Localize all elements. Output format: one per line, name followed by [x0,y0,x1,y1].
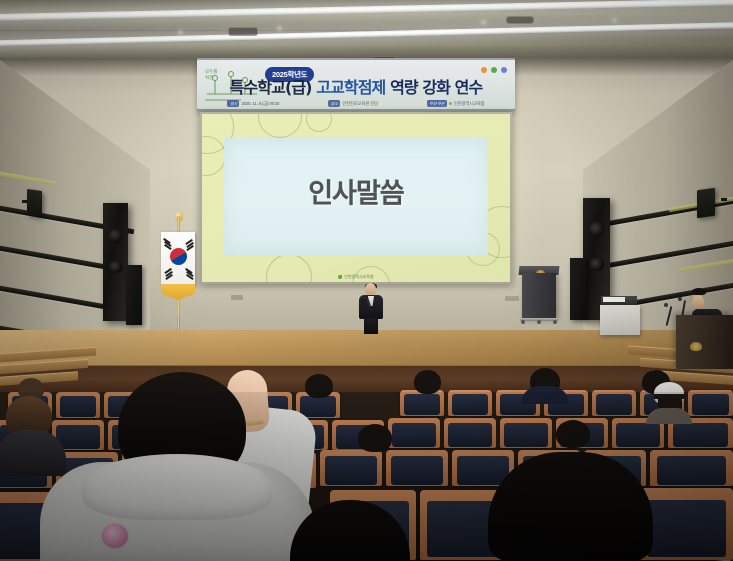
ceiling-spotlight-icon [612,18,617,23]
banner-date-text: 2025. 11. 8.(금) 09:30 [241,101,279,107]
audience-head [414,370,441,394]
lectern-caster [521,320,525,324]
seat[interactable] [388,418,440,448]
host-logo-icon [449,102,453,106]
slide-footer-text: 인천광역시교육청 [344,274,373,280]
banner-host: 주최·주관 인천광역시교육청 [427,100,485,107]
mobile-lectern [519,266,559,328]
slide-deco-circle [258,114,302,138]
banner-date: 일시 2025. 11. 8.(금) 09:30 [227,100,279,107]
banner-host-chip: 주최·주관 [427,100,447,107]
event-banner: 모두를 위한 2025학년도 특수학교(급) 고교학점제 역량 강화 연수 일시… [197,58,515,111]
banner-place-text: 인천진로교육원 강당 [342,101,378,107]
banner-place-chip: 장소 [328,100,340,107]
person-arm [361,299,366,313]
person-legs [364,318,378,334]
audience-shoulders [521,386,569,404]
banner-title-part1: 특수학교(급) [230,78,312,97]
banner-subinfo: 일시 2025. 11. 8.(금) 09:30 장소 인천진로교육원 강당 주… [203,100,509,107]
seat[interactable] [448,390,492,416]
slide-logo-icon [338,275,342,279]
banner-dots [481,67,507,73]
banner-title-part3: 역량 강화 연수 [390,78,482,97]
lectern-emblem-icon [690,342,702,351]
hoodie-badge-icon [102,524,128,548]
svg-text:모두를: 모두를 [205,69,217,75]
banner-date-chip: 일시 [227,100,239,107]
seat[interactable] [650,450,733,486]
hoodie-hood [82,454,272,520]
ceiling-spotlight-icon [481,20,486,25]
slide-headline: 인사말씀 [202,172,510,211]
slide-footer: 인천광역시교육청 [202,274,510,280]
banner-place: 장소 인천진로교육원 강당 [328,100,378,107]
ceiling-spotlight-icon [178,30,183,35]
seat[interactable] [500,418,552,448]
microphone-icon [664,303,668,307]
wall-speaker-icon [27,189,42,217]
ceiling-vent-icon [506,16,534,24]
tower-speaker-left [103,203,128,321]
seat[interactable] [592,390,636,416]
audience-shoulders [646,408,692,424]
audience-person-hoodie [40,372,330,561]
person-hair [692,288,706,295]
slide-deco-circle [306,114,332,132]
audience-head [556,420,590,448]
banner-title: 특수학교(급) 고교학점제 역량 강화 연수 [203,79,509,96]
main-lectern [676,315,733,369]
auditorium-photo: 모두를 위한 2025학년도 특수학교(급) 고교학점제 역량 강화 연수 일시… [0,0,733,561]
flag-cloth [161,232,195,286]
banner-host-text: 인천광역시교육청 [454,101,485,107]
person-head [692,295,704,309]
microphone-icon [678,297,682,301]
person-hair [488,452,653,561]
seat[interactable] [400,390,444,416]
wall-speaker-icon [697,188,715,219]
wall-marker [505,296,519,301]
subwoofer-left [126,265,142,325]
taeguk-icon [170,248,187,265]
subwoofer-right [570,258,586,320]
equipment-box [600,305,640,335]
wall-marker [231,295,243,300]
banner-dot-blue [501,67,507,73]
seat[interactable] [386,450,448,486]
stage-floor-sheen [0,330,733,368]
lectern-caster [553,320,557,324]
audience-head [358,424,392,452]
banner-dot-orange [481,67,487,73]
banner-dot-green [491,67,497,73]
presentation-slide: 인사말씀 인천광역시교육청 [202,114,510,282]
banner-title-part2: 고교학점제 [316,78,385,97]
equipment-paper [603,297,625,302]
audience-person-foreground-right [488,452,653,561]
lectern-caster [537,320,541,324]
korean-flag [155,216,201,336]
lectern-body [522,273,556,318]
presenter-person [355,283,387,333]
ceiling-spotlight-icon [277,26,282,31]
projection-screen: 인사말씀 인천광역시교육청 [200,112,512,284]
seat[interactable] [444,418,496,448]
ceiling-vent-icon [228,27,258,36]
seat[interactable] [640,488,733,560]
seat[interactable] [688,390,733,416]
flag-fringe [161,284,195,300]
speaker-bracket [721,198,727,201]
